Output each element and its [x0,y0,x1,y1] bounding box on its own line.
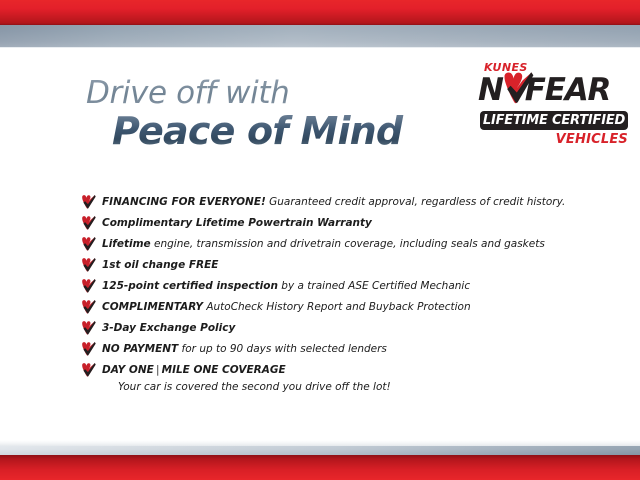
logo-wordmark: NFEAR [478,73,630,109]
list-item-subtext: Your car is covered the second you drive… [102,380,580,395]
list-item-text: Lifetime engine, transmission and drivet… [102,234,580,254]
headline-line-2: Peace of Mind [112,112,466,150]
logo-wordmark-text: NFEAR [478,73,610,107]
list-item: COMPLIMENTARY AutoCheck History Report a… [80,297,580,317]
list-item-text: Complimentary Lifetime Powertrain Warran… [102,213,580,233]
list-item-bold: FINANCING FOR EVERYONE! [102,196,266,208]
list-item-bold: NO PAYMENT [102,343,178,355]
list-item-bold: 125-point certified inspection [102,280,278,292]
heart-check-icon [80,320,97,335]
heart-check-icon [80,236,97,251]
list-item-rest: by a trained ASE Certified Mechanic [278,280,470,292]
benefits-list: FINANCING FOR EVERYONE! Guaranteed credi… [80,192,580,396]
list-item-bold: 1st oil change FREE [102,259,218,271]
bottom-silver-sheen [0,446,640,455]
list-item-bold: Complimentary Lifetime Powertrain Warran… [102,217,372,229]
headline: Drive off with Peace of Mind [86,78,466,150]
heart-check-icon [80,341,97,356]
heart-check-icon [80,194,97,209]
logo-certified-band: LIFETIME CERTIFIED [480,111,628,130]
logo-word-fear: FEAR [525,72,610,108]
list-item-rest: AutoCheck History Report and Buyback Pro… [203,301,471,313]
list-item: Lifetime engine, transmission and drivet… [80,234,580,254]
list-item: DAY ONE|MILE ONE COVERAGE Your car is co… [80,360,580,395]
list-item: 125-point certified inspection by a trai… [80,276,580,296]
list-item-rest: Guaranteed credit approval, regardless o… [266,196,566,208]
heart-check-icon [80,278,97,293]
list-item-bold: COMPLIMENTARY [102,301,203,313]
list-item-rest: for up to 90 days with selected lenders [178,343,387,355]
list-item-text: NO PAYMENT for up to 90 days with select… [102,339,580,359]
headline-line-1: Drive off with [86,78,466,109]
top-red-band [0,0,640,25]
logo-vehicles-text: VEHICLES [556,133,628,146]
heart-check-icon [80,362,97,377]
list-item: FINANCING FOR EVERYONE! Guaranteed credi… [80,192,580,212]
heart-check-icon [80,215,97,230]
list-item-bold-2: MILE ONE COVERAGE [162,364,286,376]
kunes-no-fear-logo: KUNES NFEAR LIFETIME CERTIFIED VEHICLES [478,62,630,152]
list-item-rest: engine, transmission and drivetrain cove… [151,238,545,250]
list-item-text: 125-point certified inspection by a trai… [102,276,580,296]
list-item-text: 1st oil change FREE [102,255,580,275]
promo-banner: Drive off with Peace of Mind KUNES NFEAR… [0,0,640,480]
logo-certified-text: LIFETIME CERTIFIED [483,113,625,128]
bottom-red-band [0,455,640,480]
list-item-text: DAY ONE|MILE ONE COVERAGE [102,360,580,380]
list-item: Complimentary Lifetime Powertrain Warran… [80,213,580,233]
heart-check-icon [80,299,97,314]
list-item-bold: DAY ONE [102,364,154,376]
heart-check-icon [80,257,97,272]
top-hairline-divider [0,47,640,48]
list-item-separator: | [154,364,162,376]
heart-check-icon [500,71,534,109]
top-silver-sheen [0,25,640,48]
list-item-text: 3-Day Exchange Policy [102,318,580,338]
list-item-bold: Lifetime [102,238,151,250]
list-item: 1st oil change FREE [80,255,580,275]
list-item-text: FINANCING FOR EVERYONE! Guaranteed credi… [102,192,580,212]
list-item-text: COMPLIMENTARY AutoCheck History Report a… [102,297,580,317]
list-item: 3-Day Exchange Policy [80,318,580,338]
list-item: NO PAYMENT for up to 90 days with select… [80,339,580,359]
list-item-bold: 3-Day Exchange Policy [102,322,235,334]
